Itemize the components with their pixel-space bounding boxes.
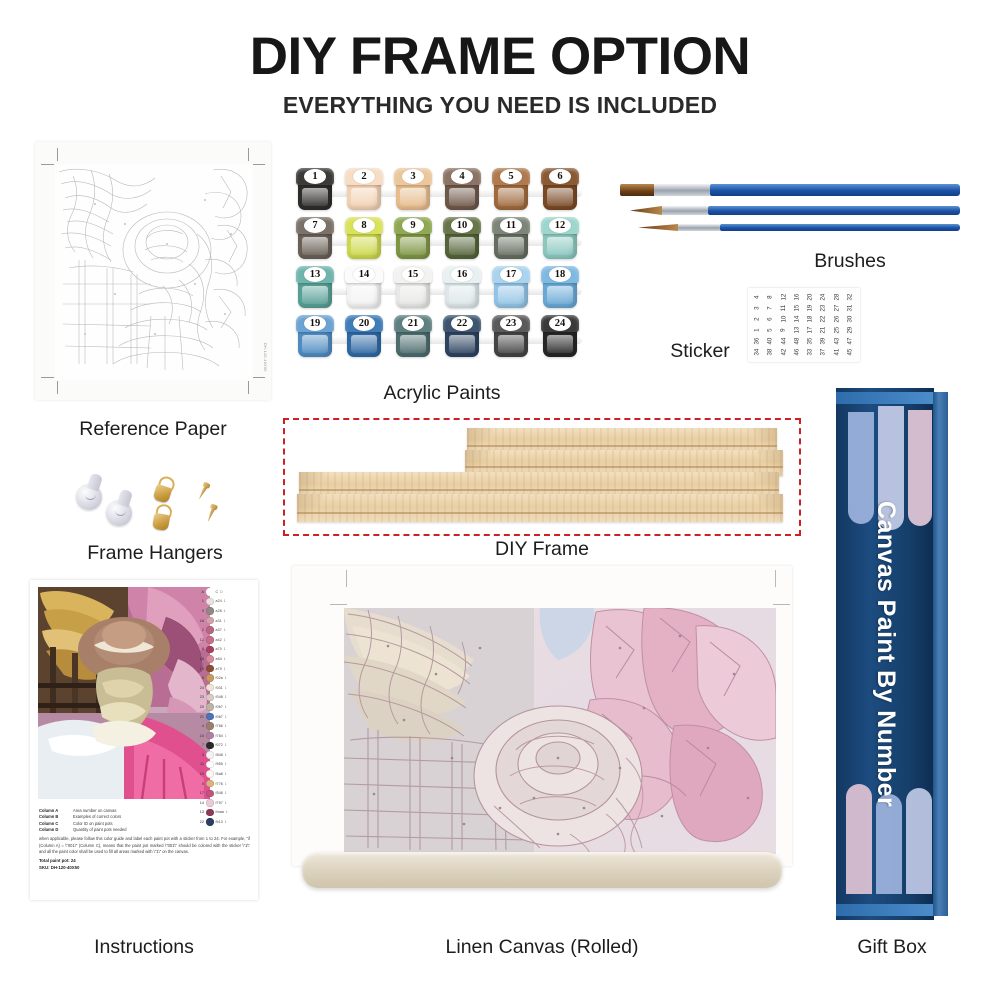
paint-pot-number: 6 [549,169,571,184]
paint-pot-23: 23 [492,315,530,359]
instructions-columns-key: Column AArea number on canvasColumn BExa… [39,808,250,833]
caption-diy-frame: DIY Frame [283,538,801,561]
paint-pot-number: 13 [304,267,326,282]
d-ring-hanger-1 [152,474,175,504]
legend-color-swatch [206,598,214,606]
frame-bar-4 [297,494,783,522]
legend-color-code: f955 [216,762,223,766]
paint-pot-10: 10 [443,217,481,261]
sticker-number: 40 [768,338,774,345]
paint-pot-number: 9 [402,218,424,233]
legend-area-number: 6 [196,676,204,680]
legend-row: 18a841 [196,654,252,664]
legend-quantity: 1 [224,619,226,623]
caption-sticker: Sticker [650,340,750,363]
paint-pot-number: 7 [304,218,326,233]
legend-color-code: f072 [216,743,223,747]
sticker-number: 46 [794,349,800,356]
sticker-number: 48 [794,338,800,345]
paint-pot-number: 21 [402,316,424,331]
sticker-number: 11 [781,305,787,311]
legend-color-code: a28 [216,609,222,613]
sticker-number-grid: 4812162024283237111519232731261014182226… [751,292,857,358]
sku-label: SKU: [39,865,50,870]
legend-color-code: f848 [216,753,223,757]
instructions-sheet: ACD1a2419a28116a3112a37112a4218a70118a84… [30,580,258,900]
brush-liner-fine [638,224,960,231]
legend-color-swatch [206,722,214,730]
legend-quantity: 1 [224,647,226,651]
linen-canvas-sheet [292,566,792,866]
linen-canvas-artwork [344,608,776,854]
legend-row: 3f8481 [196,750,252,760]
legend-row: 1a241 [196,597,252,607]
product-infographic: DIY FRAME OPTION EVERYTHING YOU NEED IS … [0,0,1000,1000]
legend-color-swatch [206,742,214,750]
paint-pot-1: 1 [296,168,334,212]
d-ring-hanger-2 [152,503,172,531]
sticker-number: 28 [834,294,840,301]
legend-color-swatch [206,617,214,625]
sticker-number: 39 [821,338,827,345]
legend-area-number: 17 [196,791,204,795]
sticker-number: 29 [847,327,853,334]
legend-color-code: f797 [216,801,223,805]
legend-quantity: 1 [225,753,227,757]
sticker-number: 6 [768,318,774,321]
paint-pot-number: 8 [353,218,375,233]
legend-color-code: f067 [216,705,223,709]
reference-paper-code: DH-120-40X50 [263,343,267,372]
legend-color-swatch [206,655,214,663]
gift-box: Canvas Paint By Number [836,388,948,920]
paint-pot-number: 15 [402,267,424,282]
sticker-number: 22 [821,316,827,323]
sticker-number: 1 [755,329,761,332]
brush-round-medium [630,206,960,215]
legend-quantity: 1 [224,609,226,613]
legend-color-code: f766 [216,724,223,728]
screw-1 [196,481,211,500]
paint-pot-14: 14 [345,266,383,310]
legend-area-number: 19 [196,772,204,776]
paint-pot-20: 20 [345,315,383,359]
paint-pot-2: 2 [345,168,383,212]
legend-color-code: f5a8 [216,772,223,776]
instructions-text-block: Column AArea number on canvasColumn BExa… [39,808,250,872]
instructions-color-preview [38,587,210,799]
paint-pot-number: 24 [549,316,571,331]
legend-area-number: 14 [196,801,204,805]
paint-pot-row: 123456 [296,166,588,215]
instructions-column-row: Column DQuantity of paint pots needed [39,827,250,833]
legend-quantity: 1 [225,695,227,699]
paint-pot-number: 23 [500,316,522,331]
reference-paper-lineart [55,164,253,380]
legend-color-code: a84 [216,657,222,661]
legend-quantity: 1 [225,686,227,690]
paint-pot-number: 12 [549,218,571,233]
total-paint-pot-label: Total paint pot: [39,858,70,863]
legend-area-number: 18 [196,657,204,661]
legend-row: 6f02a1 [196,673,252,683]
legend-color-swatch [206,674,214,682]
sticker-number: 47 [847,338,853,345]
legend-color-swatch [206,646,214,654]
sticker-number: 37 [821,349,827,356]
linen-canvas-rolled-edge [302,852,782,888]
sticker-number: 30 [847,316,853,323]
caption-brushes: Brushes [760,250,940,273]
instructions-column-value: Quantity of paint pots needed [73,827,127,833]
sticker-number: 21 [821,327,827,334]
legend-row: 17f5481 [196,788,252,798]
paint-pot-number: 14 [353,267,375,282]
legend-color-swatch [206,780,214,788]
page-subtitle: EVERYTHING YOU NEED IS INCLUDED [0,92,1000,119]
legend-area-number: 20 [196,705,204,709]
linen-canvas-group [292,566,792,904]
legend-color-code: f031 [216,686,223,690]
sticker-number: 16 [794,294,800,301]
sticker-number: 35 [808,338,814,345]
legend-color-code: f784 [216,734,223,738]
acrylic-paints-group: 123456789101112131415161718192021222324 [296,166,588,362]
wall-hook-2 [106,500,132,526]
sticker-number: 20 [808,294,814,301]
paint-pot-number: 17 [500,267,522,282]
legend-quantity: 1 [225,734,227,738]
legend-row: 19f5a81 [196,769,252,779]
legend-color-swatch [206,684,214,692]
legend-quantity: 1 [225,791,227,795]
legend-color-swatch [206,790,214,798]
paint-pot-15: 15 [394,266,432,310]
paint-pot-row: 789101112 [296,215,588,264]
instructions-color-legend: ACD1a2419a28116a3112a37112a4218a70118a84… [196,587,252,837]
legend-row: 4f7661 [196,721,252,731]
paint-pot-18: 18 [541,266,579,310]
paint-pot-11: 11 [492,217,530,261]
legend-area-number: 5 [196,782,204,786]
legend-color-code: f048 [216,695,223,699]
sticker-number: 36 [755,338,761,345]
legend-row: 23f0481 [196,693,252,703]
reference-paper-sheet: DH-120-40X50 [35,142,271,400]
legend-color-swatch [206,713,214,721]
sticker-number: 41 [834,349,840,356]
legend-quantity: 1 [225,705,227,709]
legend-area-number: 23 [196,695,204,699]
caption-gift-box: Gift Box [836,936,948,959]
paint-pot-16: 16 [443,266,481,310]
legend-color-code: a24 [216,599,222,603]
paint-pot-row: 192021222324 [296,313,588,362]
legend-row: 21f0871 [196,712,252,722]
caption-instructions: Instructions [30,936,258,959]
legend-quantity: 1 [225,715,227,719]
sticker-sheet: 4812162024283237111519232731261014182226… [748,288,860,362]
sticker-number: 9 [781,329,787,332]
legend-area-number: 16 [196,619,204,623]
legend-area-number: 10 [196,667,204,671]
legend-area-number: 9 [196,609,204,613]
sticker-number: 26 [834,316,840,323]
paint-pot-6: 6 [541,168,579,212]
sticker-number: 42 [781,349,787,356]
legend-row: 14f7971 [196,798,252,808]
gift-box-front-panel: Canvas Paint By Number [836,388,934,920]
brushes-group [620,172,960,252]
legend-color-code: a79 [216,667,222,671]
legend-color-swatch [206,694,214,702]
legend-color-swatch [206,751,214,759]
sticker-number: 19 [808,305,814,312]
paint-pot-22: 22 [443,315,481,359]
legend-row: 5f7761 [196,779,252,789]
legend-quantity: 1 [225,762,227,766]
sticker-number: 7 [768,307,774,310]
legend-quantity: 1 [225,782,227,786]
sticker-number: 32 [847,294,853,301]
page-title: DIY FRAME OPTION [0,26,1000,87]
sticker-number: 12 [781,294,787,301]
sticker-number: 31 [847,305,853,312]
total-paint-pot-value: 24 [71,858,76,863]
legend-row: 15f7841 [196,731,252,741]
sticker-number: 4 [755,296,761,299]
legend-color-swatch [206,665,214,673]
legend-color-code: a37 [216,628,222,632]
caption-linen-canvas: Linen Canvas (Rolled) [292,936,792,959]
sticker-number: 15 [794,305,800,312]
legend-color-code: f776 [216,782,223,786]
legend-quantity: 1 [224,667,226,671]
legend-color-swatch [206,770,214,778]
gift-box-title: Canvas Paint By Number [836,388,934,920]
sticker-number: 13 [794,327,800,334]
legend-area-number: 21 [196,715,204,719]
legend-quantity: 1 [225,772,227,776]
legend-color-code: f548 [216,791,223,795]
legend-row: 20f0671 [196,702,252,712]
sticker-number: 43 [834,338,840,345]
legend-row: 2a371 [196,625,252,635]
legend-row: 9a281 [196,606,252,616]
sticker-number: 45 [847,349,853,356]
instructions-column-key: Column D [39,827,69,833]
legend-row: 7f0721 [196,741,252,751]
screw-2 [205,503,218,522]
legend-color-code: f02a [216,676,223,680]
legend-color-code: a70 [216,647,222,651]
legend-row: 10a791 [196,664,252,674]
paint-pot-number: 10 [451,218,473,233]
legend-color-swatch [206,626,214,634]
legend-area-number: 3 [196,753,204,757]
sticker-number: 10 [781,316,787,323]
paint-pot-7: 7 [296,217,334,261]
paint-pot-4: 4 [443,168,481,212]
paint-pot-3: 3 [394,168,432,212]
frame-hangers-group [72,470,242,540]
legend-row: 8a701 [196,645,252,655]
caption-acrylic-paints: Acrylic Paints [296,382,588,405]
paint-pot-5: 5 [492,168,530,212]
legend-row: 16a311 [196,616,252,626]
paint-pot-24: 24 [541,315,579,359]
sticker-number: 27 [834,305,840,312]
legend-color-swatch [206,636,214,644]
sticker-number: 34 [755,349,761,356]
legend-quantity: 1 [224,657,226,661]
legend-area-number: 8 [196,647,204,651]
legend-quantity: 1 [224,638,226,642]
legend-quantity: 1 [224,599,226,603]
paint-pot-number: 2 [353,169,375,184]
legend-row: 12a421 [196,635,252,645]
legend-quantity: 1 [224,628,226,632]
paint-pot-13: 13 [296,266,334,310]
sticker-number: 44 [781,338,787,345]
legend-color-swatch [206,761,214,769]
paint-pot-12: 12 [541,217,579,261]
paint-pot-number: 3 [402,169,424,184]
sticker-number: 33 [808,349,814,356]
legend-color-code: a42 [216,638,222,642]
diy-frame-highlight [283,418,801,536]
legend-area-number: 1 [196,599,204,603]
legend-color-code: a31 [216,619,222,623]
paint-pot-number: 4 [451,169,473,184]
paint-pot-number: 19 [304,316,326,331]
sticker-number: 2 [755,318,761,321]
legend-quantity: 1 [225,724,227,728]
sticker-number: 17 [808,327,814,334]
legend-color-swatch [206,799,214,807]
legend-row: 24f0311 [196,683,252,693]
paint-pot-number: 11 [500,218,522,233]
legend-row: 11f9551 [196,760,252,770]
legend-quantity: 1 [225,743,227,747]
legend-area-number: 15 [196,734,204,738]
gift-box-side-panel [933,392,948,916]
legend-header-row: ACD [196,587,252,597]
instructions-body: when applicable, please follow this colo… [39,836,250,855]
sku-value: DH-120-40X50 [51,865,80,870]
caption-reference-paper: Reference Paper [35,418,271,441]
legend-color-swatch [206,607,214,615]
paint-pot-number: 22 [451,316,473,331]
legend-area-number: 7 [196,743,204,747]
paint-pot-number: 20 [353,316,375,331]
legend-area-number: 4 [196,724,204,728]
paint-pot-number: 16 [451,267,473,282]
wall-hook-1 [76,484,102,510]
paint-pot-9: 9 [394,217,432,261]
legend-area-number: 2 [196,628,204,632]
paint-pot-17: 17 [492,266,530,310]
sticker-number: 24 [821,294,827,301]
legend-quantity: 1 [225,676,227,680]
paint-pot-21: 21 [394,315,432,359]
sticker-number: 23 [821,305,827,312]
paint-pot-number: 5 [500,169,522,184]
legend-color-code: f087 [216,715,223,719]
sticker-number: 14 [794,316,800,323]
paint-pot-number: 1 [304,169,326,184]
legend-color-swatch [206,703,214,711]
paint-pot-19: 19 [296,315,334,359]
sticker-number: 25 [834,327,840,334]
caption-frame-hangers: Frame Hangers [40,542,270,565]
paint-pot-8: 8 [345,217,383,261]
sticker-number: 3 [755,307,761,310]
paint-pot-row: 131415161718 [296,264,588,313]
sticker-number: 38 [768,349,774,356]
paint-pot-number: 18 [549,267,571,282]
sticker-number: 18 [808,316,814,323]
brush-flat [620,184,960,196]
sticker-number: 5 [768,329,774,332]
legend-area-number: 24 [196,686,204,690]
legend-quantity: 1 [225,801,227,805]
legend-color-swatch [206,732,214,740]
legend-area-number: 11 [196,762,204,766]
legend-area-number: 12 [196,638,204,642]
sticker-number: 8 [768,296,774,299]
